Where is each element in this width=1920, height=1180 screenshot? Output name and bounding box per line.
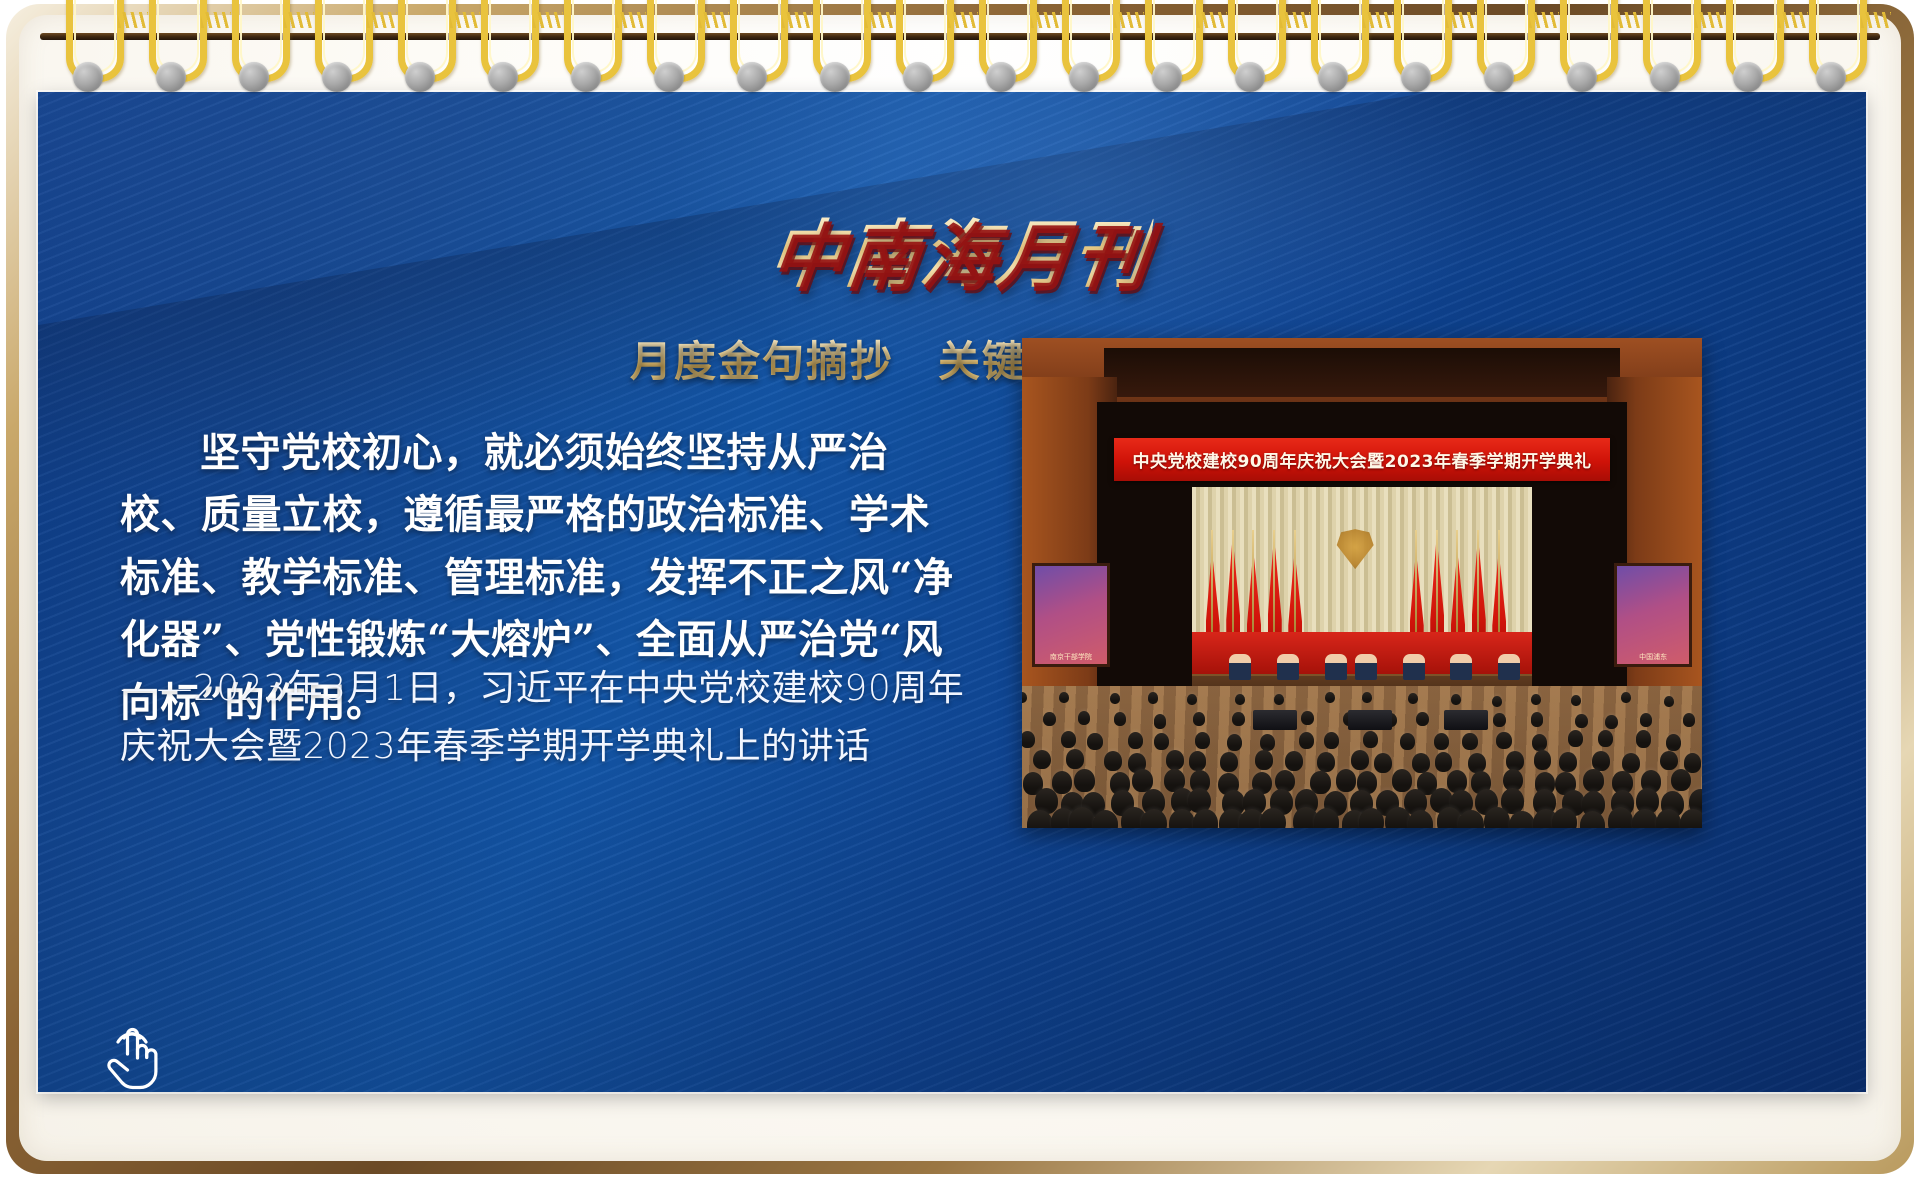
photo-audience-head [1301,711,1314,725]
photo-audience-head [1534,750,1552,770]
tap-hand-icon[interactable] [96,1008,168,1094]
photo-audience-head [1022,692,1027,703]
photo-audience-head [1220,752,1238,772]
photo-flag-pole [1415,530,1417,633]
photo-audience-head [1385,807,1411,828]
photo-audience-head [1285,751,1303,771]
photo-audience-head [1087,733,1102,750]
photo-audience-head [1260,734,1275,751]
photo-flag-pole [1498,530,1500,633]
photo-flag-pole [1211,530,1213,633]
photo-audience-head [1568,730,1583,747]
photo-audience-head [1193,809,1219,828]
photo-audience-head [1324,732,1339,749]
photo-banner-text: 中央党校建校90周年庆祝大会暨2023年春季学期开学典礼 [1133,447,1592,472]
photo-audience-head [1408,693,1418,704]
photo-audience-head [1310,771,1330,794]
photo-audience-head [1227,734,1242,751]
photo-stage-monitor [1444,710,1488,730]
photo-audience-head [1027,810,1053,828]
photo-audience-head [1531,694,1541,705]
title-container: 中南海月刊 [0,196,1920,302]
photo-seated-official [1498,654,1520,680]
photo-audience-head [1033,750,1051,770]
photo-flag-pole [1252,530,1254,633]
photo-audience-head [1148,692,1158,703]
photo-audience-head [1412,753,1430,773]
page-title: 中南海月刊 [763,196,1156,302]
photo-led-screen-left: 南京干部学院 [1032,563,1109,667]
photo-audience-head [1451,694,1461,705]
photo-audience-head [1435,752,1453,772]
quote-attribution: ——2023年3月1日，习近平在中央党校建校90周年庆祝大会暨2023年春季学期… [120,660,980,777]
photo-audience-head [1671,769,1691,792]
photo-audience-head [1336,769,1356,792]
photo-audience-head [1255,750,1273,770]
photo-stage-monitor [1253,710,1297,730]
photo-flag-pole [1456,530,1458,633]
photo-audience-head [1636,730,1651,747]
photo-audience-head [1059,692,1069,703]
photo-audience-head [1484,807,1510,828]
photo-audience-head [1317,752,1335,772]
photo-audience-head [1622,753,1640,773]
photo-audience-head [1493,713,1506,727]
photo-audience-head [1605,715,1618,729]
photo-audience-head [1193,712,1206,726]
photo-audience-head [1104,751,1122,771]
photo-audience-head [1660,751,1678,771]
photo-audience-head [1078,711,1091,725]
photo-audience-head [1043,712,1056,726]
photo-seated-official [1277,654,1299,680]
photo-audience-head [1571,695,1581,706]
photo-audience-head [1598,730,1613,747]
photo-audience-head [1392,769,1412,792]
photo-seated-official [1403,654,1425,680]
photo-audience-head [1232,712,1245,726]
photo-audience-head [1114,712,1127,726]
photo-seated-official [1355,654,1377,680]
photo-audience-head [1664,696,1674,707]
photo-audience-head [1110,693,1120,704]
photo-audience-head [1052,771,1072,794]
photo-audience-head [1509,811,1535,828]
photo-flag-pole [1232,530,1234,633]
photo-audience-head [1434,733,1449,750]
photo-banner: 中央党校建校90周年庆祝大会暨2023年春季学期开学典礼 [1114,438,1610,480]
photo-led-right-text: 中国浦东 [1617,652,1688,662]
photo-audience-head [1416,712,1429,726]
photo-audience-head [1169,809,1195,828]
photo-audience-head [1400,733,1415,750]
photo-seated-official [1450,654,1472,680]
photo-audience-head [1374,753,1392,773]
photo-flag-pole [1273,530,1275,633]
photo-audience-head [1683,713,1696,727]
photo-audience-head [1274,694,1284,705]
photo-audience-head [1462,733,1477,750]
photo-audience-head [1128,732,1143,749]
photo-seated-official [1325,654,1347,680]
photo-audience-head [1632,809,1658,828]
photo-led-screen-right: 中国浦东 [1614,563,1691,667]
photo-audience-head [1532,734,1547,751]
photo-audience-head [1506,751,1524,771]
photo-audience-head [1325,692,1335,703]
photo-seated-official [1229,654,1251,680]
photo-audience-head [1069,807,1095,828]
photo-audience-head [1061,731,1076,748]
photo-audience-head [1575,714,1588,728]
photo-audience-head [1074,769,1094,792]
photo-audience-head [1299,732,1314,749]
photo-audience-head [1066,749,1084,769]
photo-audience-head [1363,731,1378,748]
photo-flag-pole [1477,530,1479,633]
photo-audience-head [1492,696,1502,707]
photo-audience-head [1154,733,1169,750]
photo-flag-pole [1294,530,1296,633]
page-root: 中南海月刊 月度金句摘抄 关键词：党校初心 坚守党校初心，就必须始终坚持从严治校… [0,0,1920,1180]
photo-audience-head [1351,750,1369,770]
photo-audience-head [1408,810,1434,828]
photo-audience-head [1468,753,1486,773]
photo-audience-head [1680,809,1702,828]
photo-audience-head [1141,809,1167,828]
photo-audience-head [1559,752,1577,772]
photo-led-left-text: 南京干部学院 [1035,652,1106,662]
photo-audience-head [1496,732,1511,749]
photo-audience [1022,686,1702,828]
photo-stage-monitor [1348,710,1392,730]
photo-audience-head [1583,769,1603,792]
photo-audience-head [1531,712,1544,726]
photo-flag-pole [1436,530,1438,633]
photo-audience-head [1154,714,1167,728]
photo-audience-head [1314,808,1340,828]
photo-audience-head [1166,750,1184,770]
photo-audience-head [1621,692,1631,703]
conference-photo: 中央党校建校90周年庆祝大会暨2023年春季学期开学典礼 南京干部学院 中国浦东 [1022,338,1702,828]
photo-audience-head [1195,732,1210,749]
photo-audience-head [1640,713,1653,727]
photo-audience-head [1189,751,1207,771]
photo-audience-head [1187,694,1197,705]
photo-audience-head [1666,734,1681,751]
photo-ceiling-band [1104,348,1621,397]
photo-audience-head [1235,694,1245,705]
photo-audience-head [1362,692,1372,703]
photo-audience-head [1260,808,1286,828]
photo-audience-head [1022,731,1035,748]
